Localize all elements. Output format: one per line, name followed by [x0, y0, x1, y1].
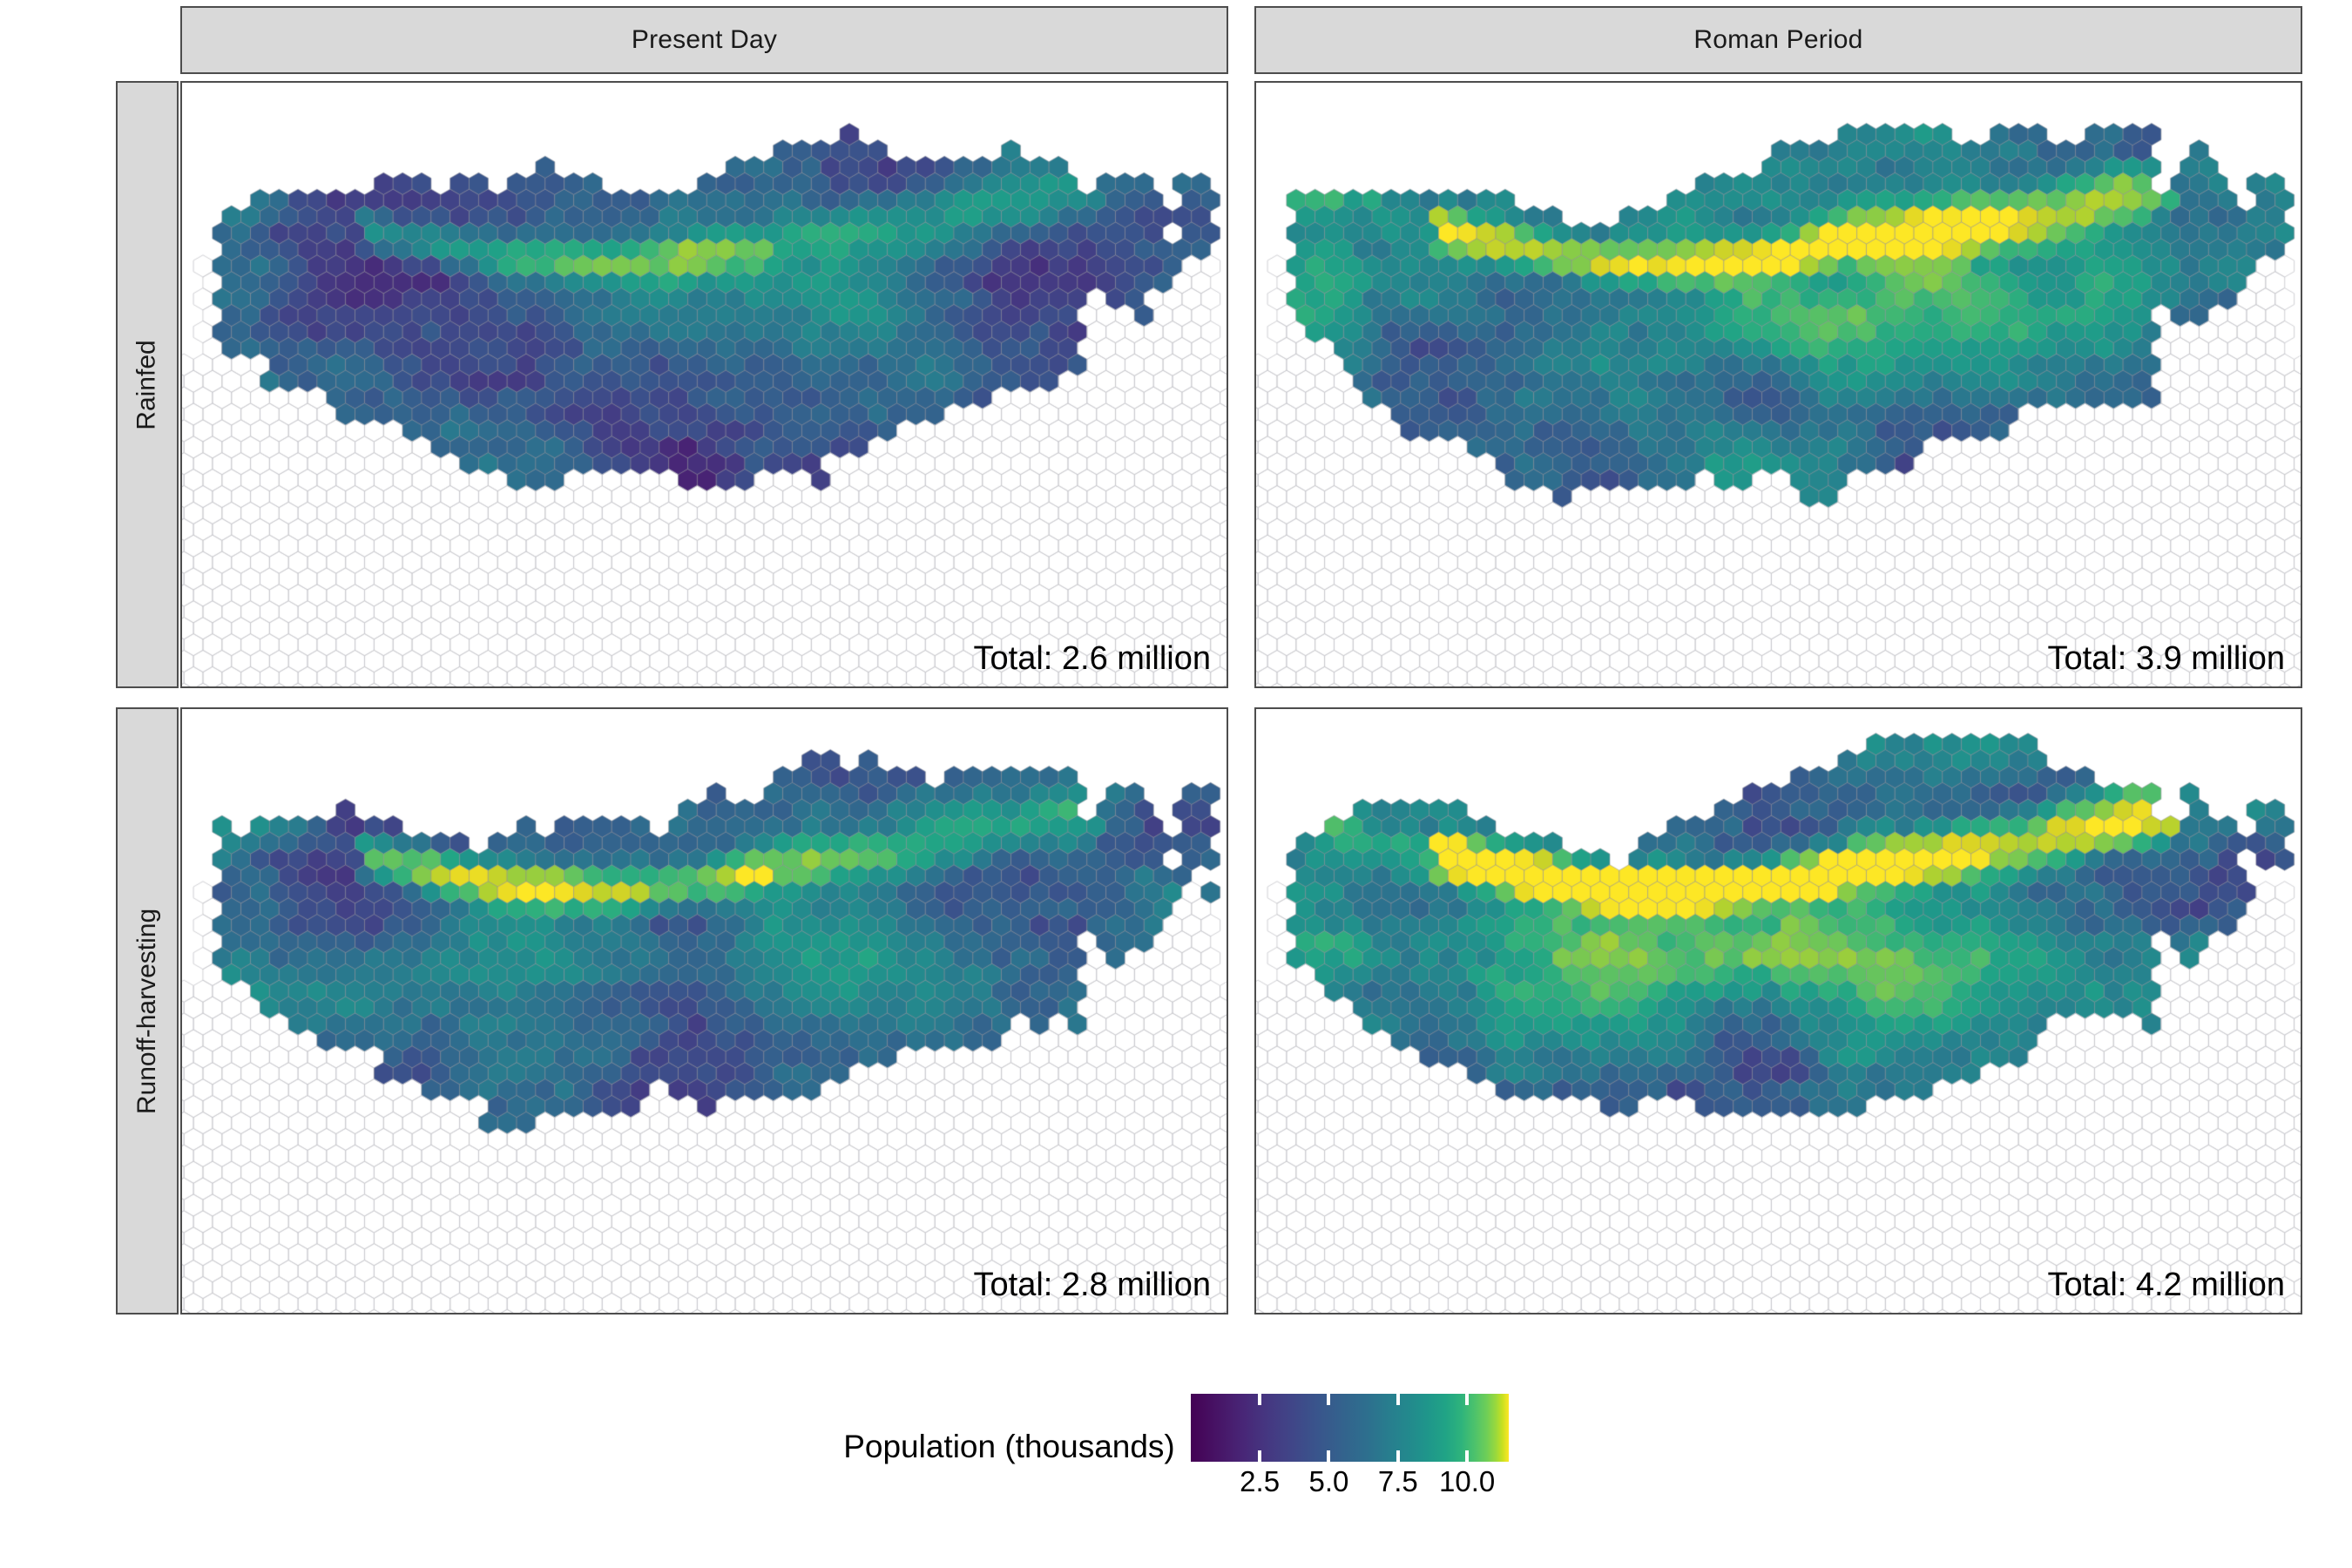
legend-tick-mark — [1327, 1394, 1330, 1405]
legend-tick-label: 5.0 — [1309, 1465, 1349, 1498]
legend-tick-mark — [1396, 1394, 1400, 1405]
legend-tick-mark — [1396, 1450, 1400, 1462]
legend-tick-label: 7.5 — [1378, 1465, 1418, 1498]
legend-tick-label: 10.0 — [1439, 1465, 1495, 1498]
legend-tick-mark — [1327, 1450, 1330, 1462]
legend-tick-mark — [1258, 1394, 1261, 1405]
legend-tick-label: 2.5 — [1240, 1465, 1280, 1498]
panel-total-label: Total: 3.9 million — [2048, 640, 2285, 678]
hexbin-map — [1256, 709, 2301, 1313]
facet-strip-column-present-day: Present Day — [180, 6, 1228, 74]
facet-strip-row-rainfed: Rainfed — [116, 81, 179, 688]
legend-tick-mark — [1465, 1450, 1469, 1462]
facet-strip-column-label: Roman Period — [1693, 25, 1862, 55]
panel-total-label: Total: 2.8 million — [974, 1267, 1211, 1304]
hexbin-map — [1256, 83, 2301, 686]
panel-rainfed-present-day: Total: 2.6 million — [180, 81, 1228, 688]
hexbin-map — [182, 83, 1227, 686]
legend-title: Population (thousands) — [843, 1394, 1175, 1463]
legend-tick-mark — [1258, 1450, 1261, 1462]
figure-root: Present Day Roman Period Rainfed Runoff-… — [0, 0, 2352, 1568]
facet-strip-row-runoff-harvesting: Runoff-harvesting — [116, 707, 179, 1315]
legend: Population (thousands) 2.5 5.0 7.5 10.0 — [0, 1394, 2352, 1533]
panel-total-label: Total: 4.2 million — [2048, 1267, 2285, 1304]
panel-rainfed-roman-period: Total: 3.9 million — [1254, 81, 2302, 688]
panel-runoff-harvesting-present-day: Total: 2.8 million — [180, 707, 1228, 1315]
panel-runoff-harvesting-roman-period: Total: 4.2 million — [1254, 707, 2302, 1315]
facet-strip-column-label: Present Day — [632, 25, 777, 55]
facet-strip-row-label: Runoff-harvesting — [132, 908, 162, 1113]
legend-tick-mark — [1465, 1394, 1469, 1405]
legend-colorbar — [1191, 1394, 1509, 1462]
facet-strip-column-roman-period: Roman Period — [1254, 6, 2302, 74]
facet-strip-row-label: Rainfed — [132, 340, 162, 429]
hexbin-map — [182, 709, 1227, 1313]
panel-total-label: Total: 2.6 million — [974, 640, 1211, 678]
legend-tick-labels: 2.5 5.0 7.5 10.0 — [1191, 1465, 1509, 1509]
